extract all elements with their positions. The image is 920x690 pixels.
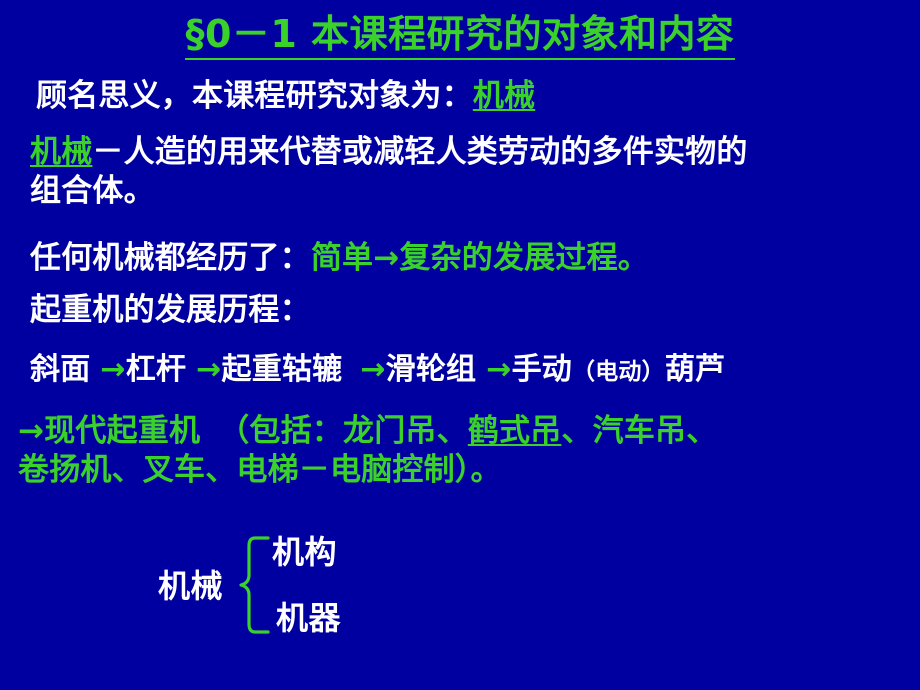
slide-canvas: §0－1 本课程研究的对象和内容 顾名思义，本课程研究对象为：机械 机械－人造的… <box>0 0 920 690</box>
line3-highlight-text: 简单→复杂的发展过程。 <box>311 240 649 276</box>
evolution-chain: 斜面→杠杆→起重轱辘→滑轮组→手动（电动）葫芦 <box>30 352 725 387</box>
chain-item-0: 斜面 <box>30 352 90 387</box>
arrow-icon: → <box>100 352 125 387</box>
curly-brace-icon <box>238 533 274 637</box>
body-block-2: 机械－人造的用来代替或减轻人类劳动的多件实物的 组合体。 <box>30 133 910 211</box>
modern-crane-block: →现代起重机（包括：龙门吊、鹤式吊、汽车吊、 卷扬机、叉车、电梯－电脑控制）。 <box>18 412 918 490</box>
body-block-2-row-1: 机械－人造的用来代替或减轻人类劳动的多件实物的 <box>30 133 910 172</box>
modern-crane-row-1: →现代起重机（包括：龙门吊、鹤式吊、汽车吊、 <box>18 412 918 451</box>
body-block-2-row-2: 组合体。 <box>30 172 910 211</box>
page-title: §0－1 本课程研究的对象和内容 <box>185 12 734 60</box>
slide-title-block: §0－1 本课程研究的对象和内容 <box>0 12 920 60</box>
line2-term: 机械 <box>30 134 92 170</box>
line2-definition: －人造的用来代替或减轻人类劳动的多件实物的 <box>92 134 747 170</box>
arrow-icon: → <box>18 413 44 449</box>
modern-crane-item-2: 鹤式吊 <box>468 413 562 449</box>
modern-crane-row-2-text: 卷扬机、叉车、电梯－电脑控制）。 <box>18 452 502 488</box>
arrow-icon: → <box>486 352 511 387</box>
arrow-icon: → <box>196 352 221 387</box>
chain-item-4-tail: 葫芦 <box>665 352 725 387</box>
modern-crane-item-3: 、汽车吊、 <box>561 413 717 449</box>
modern-crane-item-1: 龙门吊、 <box>343 413 468 449</box>
body-line-1: 顾名思义，本课程研究对象为：机械 <box>36 78 535 115</box>
chain-item-4: 手动 <box>512 352 572 387</box>
chain-item-4-qualifier: （电动） <box>572 359 665 385</box>
modern-crane-head: 现代起重机 <box>44 413 200 449</box>
machine-classification-diagram: 机械 机构 机器 <box>150 525 480 645</box>
modern-crane-row-2: 卷扬机、叉车、电梯－电脑控制）。 <box>18 451 918 490</box>
diagram-branch-top-label: 机构 <box>272 527 337 573</box>
diagram-branch-bottom-label: 机器 <box>276 593 341 639</box>
line2-continuation: 组合体。 <box>30 173 155 209</box>
modern-crane-open: （包括： <box>218 413 343 449</box>
line4-text: 起重机的发展历程： <box>30 292 311 328</box>
chain-item-3: 滑轮组 <box>386 352 477 387</box>
line1-plain-text: 顾名思义，本课程研究对象为： <box>36 78 473 114</box>
chain-item-1: 杠杆 <box>126 352 186 387</box>
line3-plain-text: 任何机械都经历了： <box>30 240 311 276</box>
diagram-root-label: 机械 <box>158 561 223 607</box>
body-line-4: 起重机的发展历程： <box>30 292 311 329</box>
arrow-icon: → <box>360 352 385 387</box>
body-line-3: 任何机械都经历了：简单→复杂的发展过程。 <box>30 240 649 277</box>
chain-item-2: 起重轱辘 <box>222 352 343 387</box>
line1-highlight-term: 机械 <box>473 78 535 114</box>
